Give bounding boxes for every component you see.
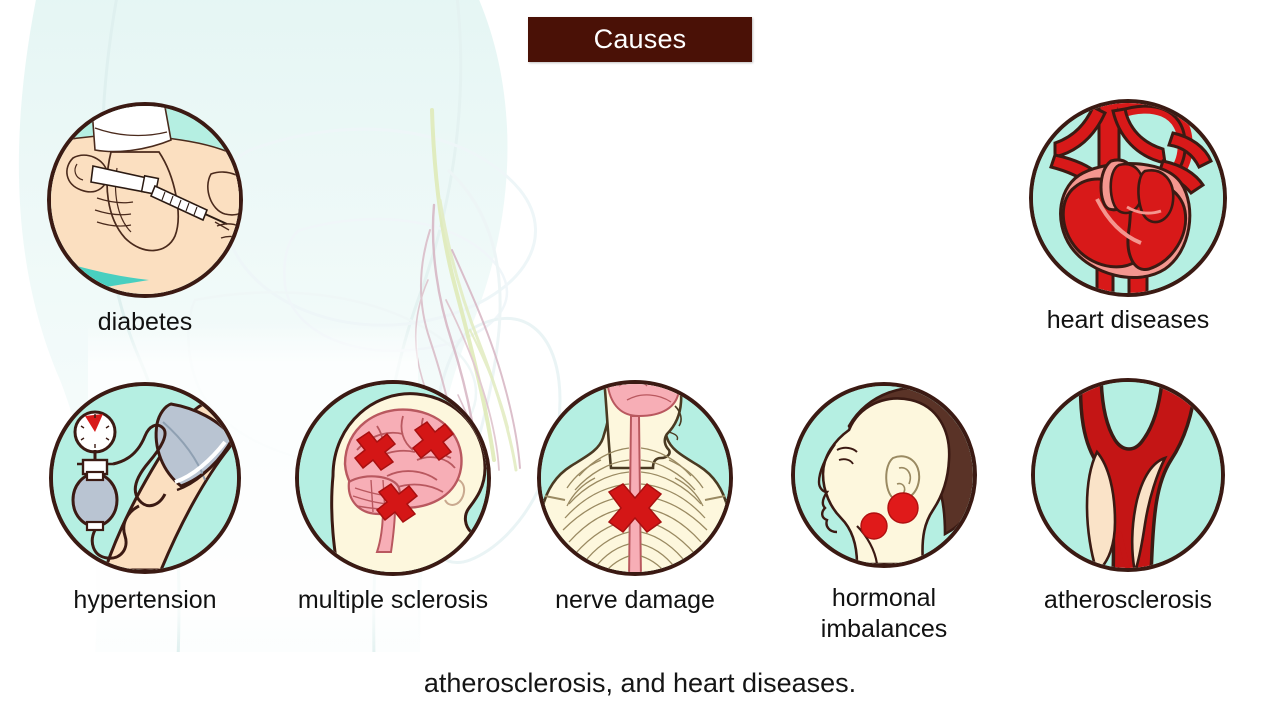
anatomical-heart-icon: [1029, 99, 1227, 297]
nervous-system-torso-icon: [537, 380, 733, 576]
clogged-artery-icon: [1031, 378, 1225, 572]
cause-label-diabetes: diabetes: [45, 307, 245, 338]
blood-pressure-cuff-icon: [49, 382, 241, 574]
cause-label-hypertension: hypertension: [35, 585, 255, 616]
cause-label-multiple-sclerosis: multiple sclerosis: [268, 585, 518, 616]
cause-label-atherosclerosis: atherosclerosis: [1008, 585, 1248, 616]
slide-title-banner: Causes: [528, 17, 752, 62]
cause-label-nerve-damage: nerve damage: [520, 585, 750, 616]
cause-label-hormonal-imbalances: hormonal imbalances: [769, 583, 999, 645]
insulin-injection-icon: [47, 102, 243, 298]
hormone-marker-dot-upper: [888, 493, 918, 523]
brain-lesions-head-icon: [295, 380, 491, 576]
thyroid-neck-profile-icon: [791, 382, 977, 568]
slide-canvas: Causes: [0, 0, 1280, 720]
slide-title-text: Causes: [594, 26, 687, 53]
cause-label-heart-diseases: heart diseases: [1008, 305, 1248, 336]
hormone-marker-dot-lower: [861, 513, 887, 539]
slide-caption: atherosclerosis, and heart diseases.: [0, 668, 1280, 699]
